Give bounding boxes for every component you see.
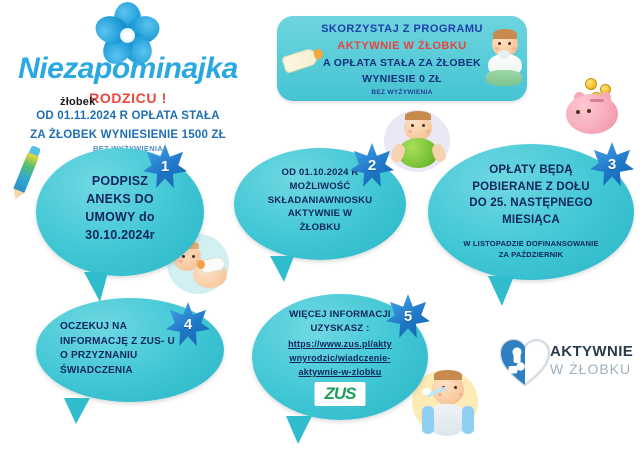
star-badge-3-number: 3: [608, 156, 616, 173]
star-badge-2-number: 2: [368, 157, 376, 174]
star-badge-4-number: 4: [184, 316, 192, 333]
bubble-3-note-2: ZA PAŹDZIERNIK: [428, 249, 634, 260]
zus-url-line-1[interactable]: https://www.zus.pl/akty: [252, 338, 428, 352]
zus-url-line-3[interactable]: aktywnie-w-zlobku: [252, 366, 428, 380]
bubble-4-line-4: ŚWIADCZENIA: [60, 364, 224, 379]
bubble-4-line-3: O PRZYZNANIU: [60, 349, 224, 364]
bubble-4-line-2: INFORMACJĘ Z ZUS- U: [60, 335, 224, 350]
zus-logo: ZUS: [315, 382, 366, 406]
header-line-1: OD 01.11.2024 R OPŁATA STAŁA: [8, 109, 248, 125]
bubble-2-line-4: AKTYWNIE W: [234, 207, 406, 221]
bubble-3-line-4: MIESIĄCA: [428, 212, 634, 229]
brand-name: Niezapominajka: [8, 54, 248, 84]
star-badge-5-number: 5: [404, 308, 412, 325]
program-logo: AKTYWNIE W ŻŁOBKU: [498, 334, 634, 396]
star-badge-1-number: 1: [161, 158, 169, 175]
brand-small-word: żłobek: [60, 96, 95, 108]
program-logo-subtitle: W ŻŁOBKU: [550, 361, 633, 378]
bubble-1-line-1: PODPISZ: [36, 172, 204, 190]
heart-puzzle-icon: [498, 336, 552, 388]
brand-header: żłobek Niezapominajka RODZICU ! OD 01.11…: [8, 2, 248, 153]
bubble-1-line-3: UMOWY do: [36, 208, 204, 226]
rodzicu-heading: RODZICU !: [8, 90, 248, 106]
bubble-1-line-2: ANEKS DO: [36, 190, 204, 208]
banner-line-5: BEZ WYŻYWIENIA: [277, 89, 527, 96]
bubble-3-note-1: W LISTOPADZIE DOFINANSOWANIE: [428, 238, 634, 249]
speech-bubble-4[interactable]: OCZEKUJ NA INFORMACJĘ Z ZUS- U O PRZYZNA…: [36, 298, 224, 402]
bubble-3-line-2: POBIERANE Z DOŁU: [428, 179, 634, 196]
program-logo-title: AKTYWNIE: [550, 344, 633, 359]
bubble-3-line-3: DO 25. NASTĘPNEGO: [428, 195, 634, 212]
bubble-2-line-5: ŻŁOBKU: [234, 221, 406, 235]
bubble-2-line-3: SKŁADANIAWNIOSKU: [234, 194, 406, 208]
zus-url-line-2[interactable]: wnyrodzic/wiadczenie-: [252, 352, 428, 366]
piggy-bank-icon: [560, 80, 622, 135]
banner-baby-icon: [484, 28, 528, 90]
header-line-2: ZA ŻŁOBEK WYNIESIENIE 1500 ZŁ: [8, 128, 248, 144]
infographic-canvas: żłobek Niezapominajka RODZICU ! OD 01.11…: [0, 0, 640, 449]
bubble-1-line-4: 30.10.2024r: [36, 226, 204, 244]
